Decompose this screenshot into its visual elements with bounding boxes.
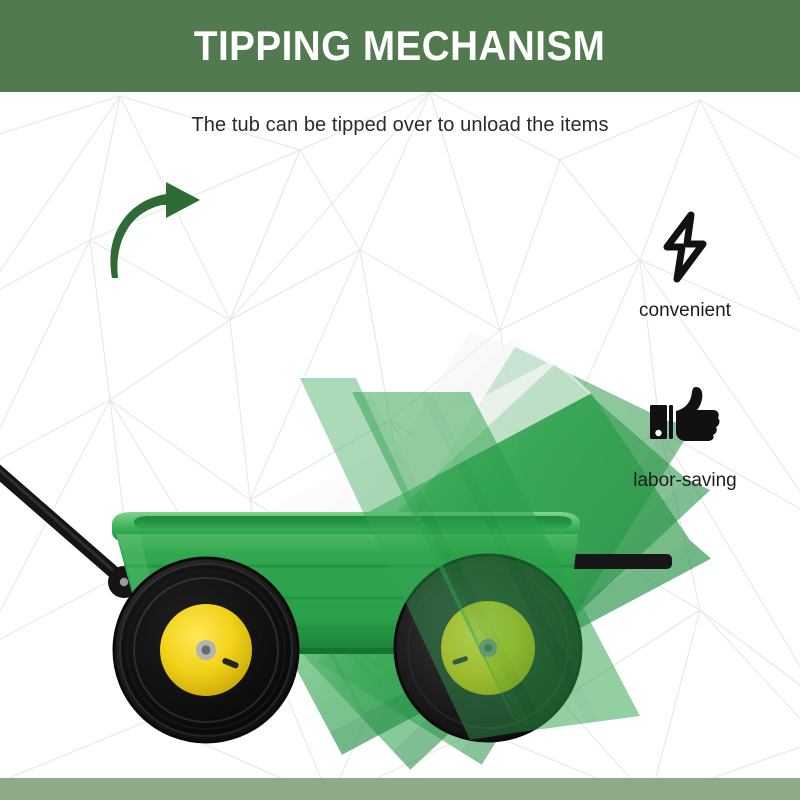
front-wheel [114,558,298,742]
lightning-bolt-icon [600,208,770,286]
thumbs-up-icon [600,378,770,456]
infographic-page: TIPPING MECHANISM The tub can be tipped … [0,0,800,800]
feature-label-convenient: convenient [600,300,770,322]
feature-label-labor-saving: labor-saving [600,470,770,492]
page-title: TIPPING MECHANISM [194,25,605,67]
feature-labor-saving: labor-saving [600,378,770,492]
feature-convenient: convenient [600,208,770,322]
curved-arrow-up-right-icon [110,182,200,278]
header-band: TIPPING MECHANISM [0,0,800,92]
subtitle-text: The tub can be tipped over to unload the… [0,114,800,137]
rotation-arrow [104,178,212,285]
footer-band [0,778,800,800]
